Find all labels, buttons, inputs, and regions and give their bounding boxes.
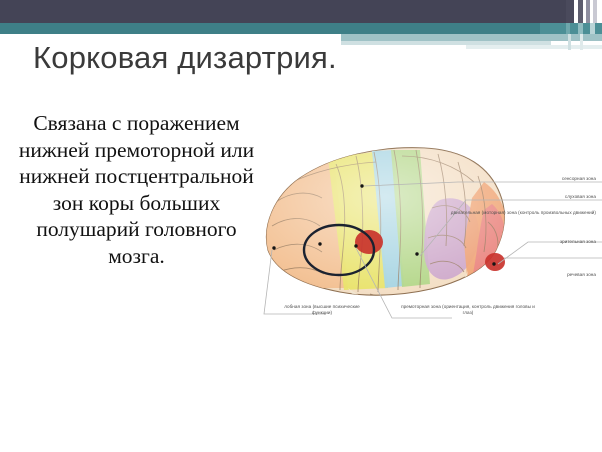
header-band-teal — [0, 23, 540, 34]
anchor-dot-auditory — [415, 252, 418, 255]
label-premotor-zone: премоторная зона (ориентация, контроль д… — [398, 304, 538, 315]
brain-diagram-figure: сенсорная зона слуховая зона двигательна… — [252, 138, 602, 348]
anchor-dot-visual — [492, 262, 495, 265]
brain-marker-red-central — [355, 230, 383, 254]
header-band-dark-stripe-3 — [586, 0, 590, 23]
header-band-dark-stripe-4 — [593, 0, 597, 23]
header-band-teal-stripe-3 — [590, 23, 595, 34]
header-band-dark-stripe-1 — [566, 0, 574, 23]
label-visual-zone: зрительная зона — [460, 239, 596, 245]
label-speech-zone: речевая зона — [460, 272, 596, 278]
header-band-dark — [0, 0, 566, 23]
label-motor-zone: двигательная (моторная) зона (контроль п… — [442, 210, 596, 216]
slide-title: Корковая дизартрия. — [33, 40, 553, 76]
header-vertical-accent-1 — [568, 34, 571, 50]
presentation-slide: Корковая дизартрия. Связана с поражением… — [0, 0, 602, 452]
label-frontal-zone: лобная зона (высшие психические функции) — [276, 304, 368, 315]
anchor-dot-premotor — [354, 244, 357, 247]
label-auditory-zone: слуховая зона — [460, 194, 596, 200]
brain-marker-red-occipital — [485, 253, 505, 271]
header-vertical-accent-2 — [580, 34, 583, 50]
anchor-dot-sensory — [360, 184, 363, 187]
header-band-teal-stripe-2 — [578, 23, 583, 34]
anchor-dot-motor — [318, 242, 321, 245]
slide-body-text: Связана с поражением нижней премоторной … — [14, 110, 259, 269]
anchor-dot-frontal — [272, 246, 275, 249]
header-band-dark-stripe-2 — [578, 0, 583, 23]
header-band-teal-stripe-1 — [566, 23, 570, 34]
label-sensory-zone: сенсорная зона — [460, 176, 596, 182]
